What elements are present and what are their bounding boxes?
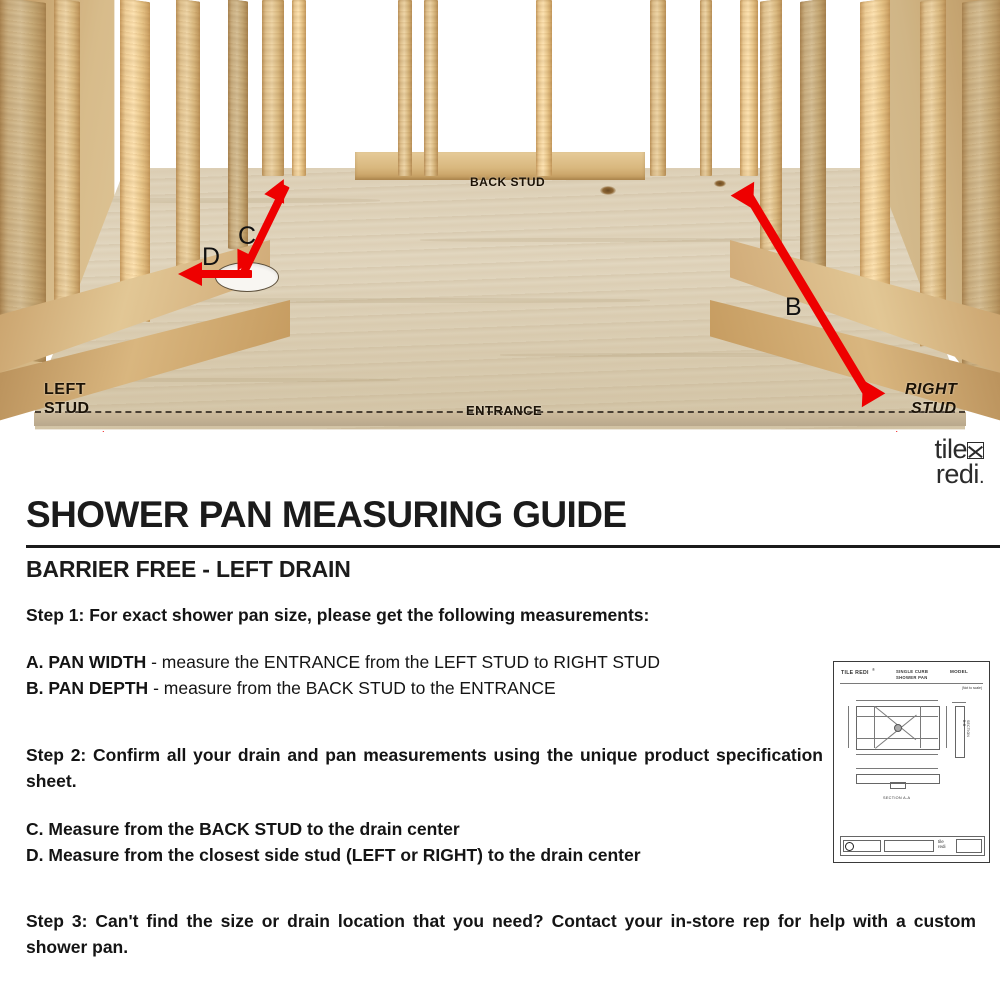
spec-section-bb-label: SECTION B-B (962, 720, 970, 739)
label-left-stud-line2: STUD (44, 400, 90, 418)
page-subtitle: BARRIER FREE - LEFT DRAIN (26, 556, 351, 583)
measuring-guide-page: A B C D BACK STUD LEFT STUD RIGHT STUD E… (0, 0, 1000, 1000)
logo-period: . (979, 466, 984, 488)
item-d-text: D. Measure from the closest side stud (L… (26, 842, 826, 868)
spec-section-aa-label: SECTION A-A (883, 796, 910, 800)
dimension-label-d: D (202, 243, 220, 272)
step-2-text: Step 2: Confirm all your drain and pan m… (26, 742, 823, 794)
item-b-label: B. (26, 678, 44, 698)
page-title: SHOWER PAN MEASURING GUIDE (26, 494, 626, 536)
spec-drain-icon (894, 724, 902, 732)
item-a-description: - measure the ENTRANCE from the LEFT STU… (151, 652, 660, 672)
item-a-term: PAN WIDTH (48, 652, 146, 672)
dimension-label-c: C (238, 222, 256, 251)
ul-listed-icon (845, 842, 854, 851)
spec-product-line2: SHOWER PAN (896, 675, 928, 680)
title-divider (26, 545, 1000, 548)
spec-note: (Not to scale) (962, 686, 982, 690)
item-a-row: A. PAN WIDTH - measure the ENTRANCE from… (26, 649, 826, 675)
logo-text-redi: redi (936, 459, 979, 489)
spec-drain-body (890, 782, 906, 789)
item-b-row: B. PAN DEPTH - measure from the BACK STU… (26, 675, 826, 701)
dimension-label-b: B (785, 293, 802, 322)
spec-model: MODEL (950, 669, 968, 674)
item-b-term: PAN DEPTH (48, 678, 148, 698)
label-right-stud-line1: RIGHT (905, 381, 957, 399)
tile-redi-logo: tile redi. (864, 437, 984, 503)
item-b-description: - measure from the BACK STUD to the ENTR… (153, 678, 556, 698)
label-entrance: ENTRANCE (466, 403, 542, 418)
spec-field-block (884, 840, 934, 852)
spec-brand-mark: ® (872, 667, 875, 672)
step-3-text: Step 3: Can't find the size or drain loc… (26, 908, 976, 960)
spec-sheet-thumbnail: TILE REDI ® SINGLE CURB SHOWER PAN MODEL… (833, 661, 990, 863)
spec-footer-logo-line2: redi (938, 844, 946, 849)
dimension-d-arrowhead-left (178, 262, 202, 286)
item-a-label: A. (26, 652, 44, 672)
logo-line-2: redi. (864, 462, 984, 490)
label-back-stud: BACK STUD (470, 175, 545, 189)
framing-photo: A B C D BACK STUD LEFT STUD RIGHT STUD E… (0, 0, 1000, 432)
label-right-stud-line2: STUD (911, 400, 957, 418)
spec-brand: TILE REDI (841, 670, 869, 676)
label-left-stud-line1: LEFT (44, 381, 86, 399)
item-c-text: C. Measure from the BACK STUD to the dra… (26, 816, 826, 842)
x-box-icon (967, 442, 984, 459)
spec-product-line1: SINGLE CURB (896, 669, 928, 674)
step-1-text: Step 1: For exact shower pan size, pleas… (26, 602, 826, 628)
spec-rev-block (956, 839, 982, 853)
spec-footer-logo: tile redi (938, 839, 946, 849)
